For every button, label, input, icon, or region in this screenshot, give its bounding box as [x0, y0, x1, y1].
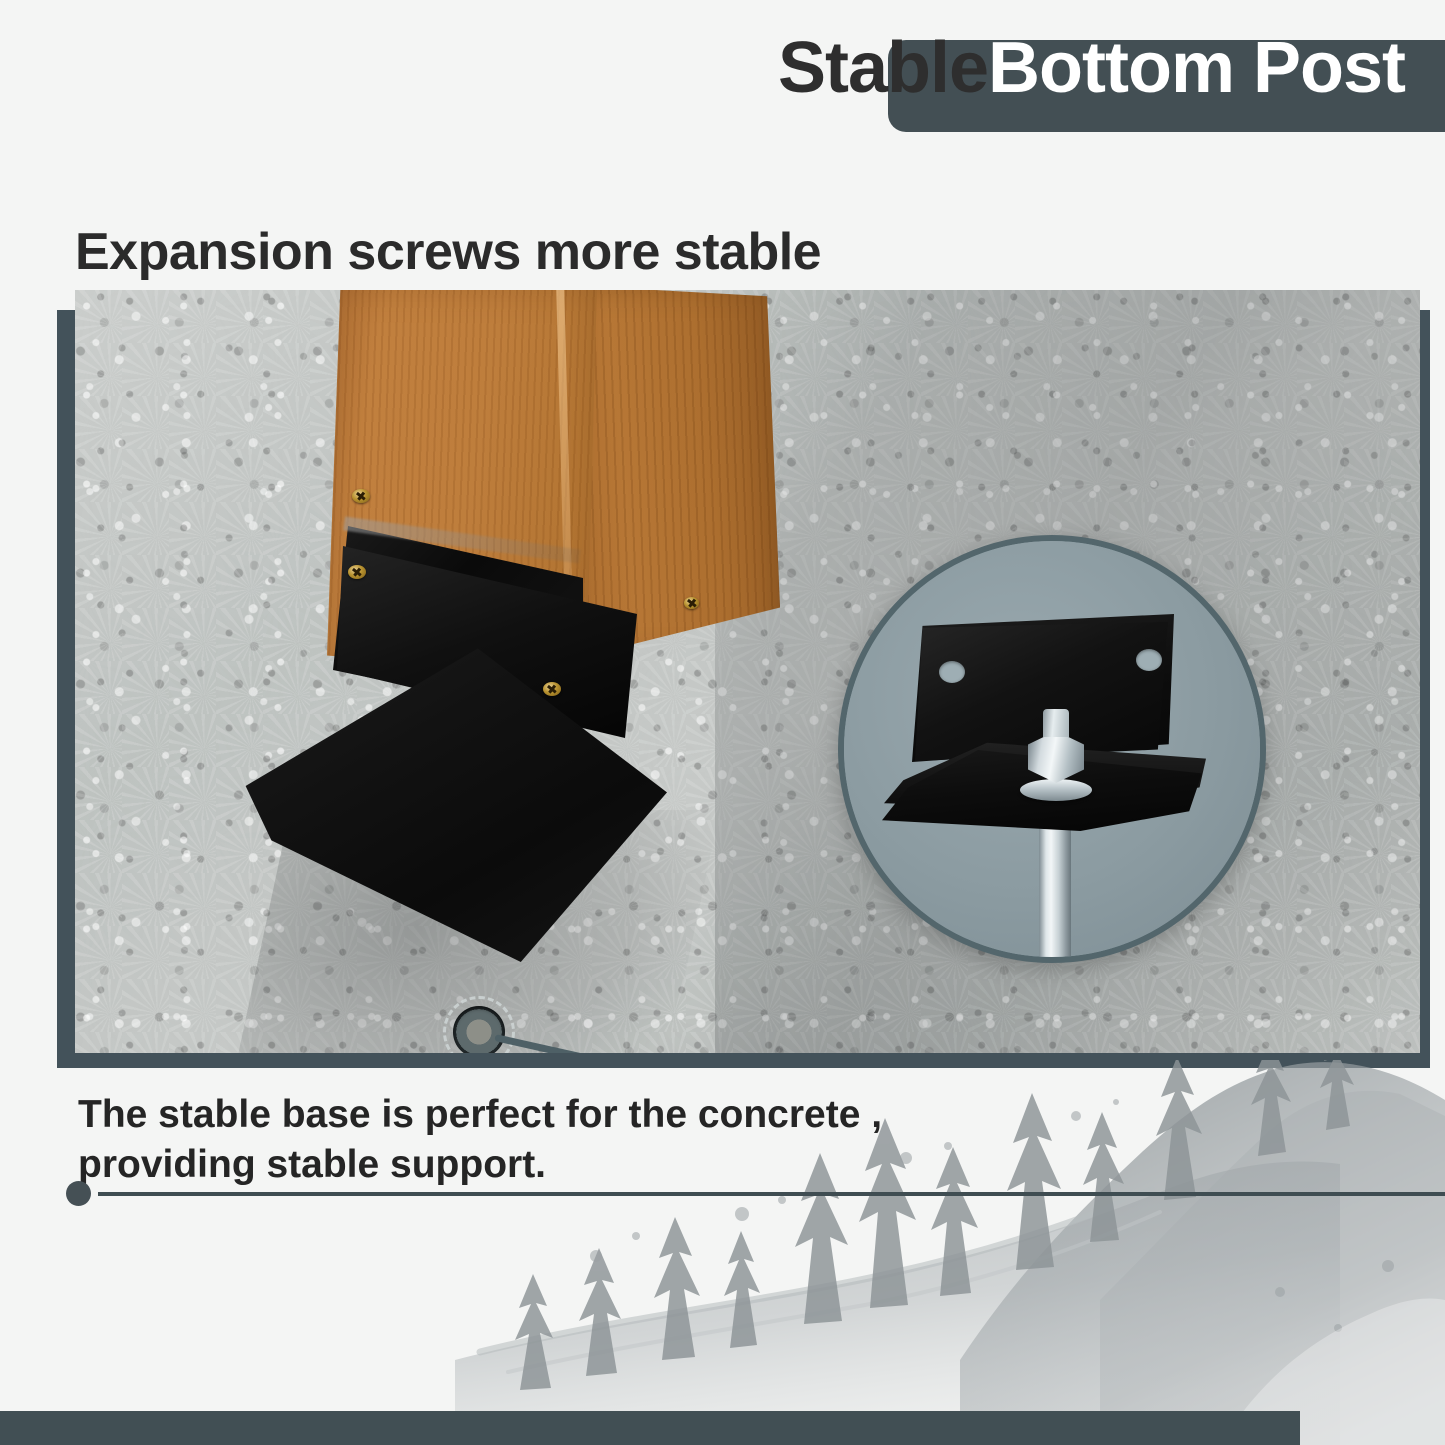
wood-post-side-face [565, 290, 780, 660]
caption-text: The stable base is perfect for the concr… [78, 1090, 1078, 1189]
caption-line-2: providing stable support. [78, 1140, 1078, 1190]
wood-grain-side [565, 290, 780, 660]
wood-screw-icon [543, 682, 561, 696]
product-photo [75, 290, 1420, 1053]
section-heading: Expansion screws more stable [75, 222, 821, 282]
bolt-threaded-tip [1043, 709, 1069, 737]
bracket-mounting-hole-left [939, 661, 965, 683]
page-title-row: StableBottom Post [0, 0, 1445, 170]
caption-rule-line [98, 1192, 1445, 1196]
wood-screw-icon [348, 565, 366, 579]
magnifier-circle [838, 535, 1266, 963]
bracket-mounting-hole-right [1136, 649, 1162, 671]
caption-rule-dot [66, 1181, 91, 1206]
footer-bar [0, 1411, 1300, 1445]
title-plain-part: Stable [778, 28, 988, 108]
caption-line-1: The stable base is perfect for the concr… [78, 1090, 1078, 1140]
wood-screw-icon [352, 489, 370, 503]
title-highlight-part: Bottom Post [988, 28, 1405, 108]
wood-screw-icon [684, 597, 699, 609]
page-title: StableBottom Post [0, 32, 1405, 104]
